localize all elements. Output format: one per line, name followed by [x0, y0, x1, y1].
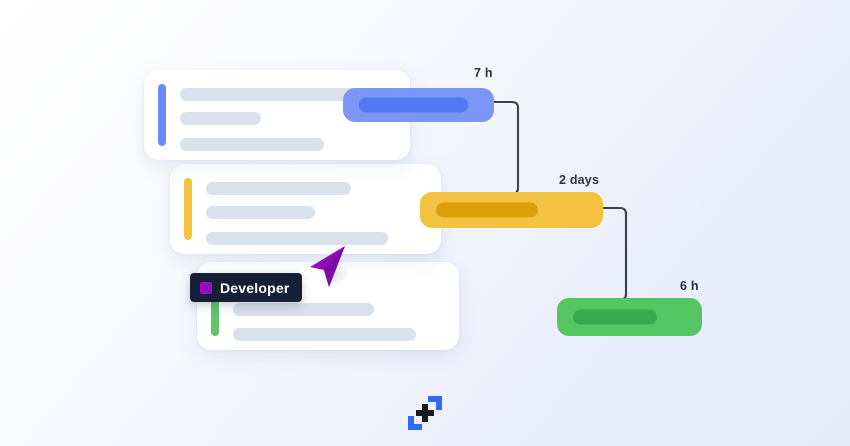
- task-skeleton-group-2: [206, 178, 423, 240]
- gantt-duration-label-2: 2 days: [559, 173, 599, 187]
- gantt-bar-progress-2: [436, 203, 538, 218]
- task-accent-bar-1: [158, 84, 166, 146]
- skeleton-line: [180, 112, 261, 125]
- skeleton-line: [206, 182, 351, 195]
- task-card-2[interactable]: [170, 164, 441, 254]
- role-color-swatch: [200, 282, 212, 294]
- gantt-duration-label-1: 7 h: [474, 66, 493, 80]
- task-accent-bar-2: [184, 178, 192, 240]
- skeleton-line: [180, 138, 324, 151]
- skeleton-line: [206, 206, 315, 219]
- cursor-tooltip: Developer: [190, 273, 302, 302]
- gantt-bar-task-3[interactable]: [557, 298, 702, 336]
- skeleton-line: [233, 328, 416, 341]
- mouse-cursor: [303, 243, 359, 299]
- gantt-bar-progress-3: [573, 310, 657, 325]
- gantt-bar-task-2[interactable]: [420, 192, 603, 228]
- skeleton-line: [180, 88, 364, 101]
- gantt-bar-task-1[interactable]: [343, 88, 494, 122]
- cursor-tooltip-label: Developer: [220, 281, 290, 295]
- illustration-canvas: 7 h 2 days 6 h Developer: [0, 0, 850, 446]
- skeleton-line: [233, 303, 374, 316]
- skeleton-line: [206, 232, 388, 245]
- gantt-bar-progress-1: [359, 98, 468, 113]
- plus-brackets-logo-icon: [404, 392, 446, 434]
- gantt-duration-label-3: 6 h: [680, 279, 699, 293]
